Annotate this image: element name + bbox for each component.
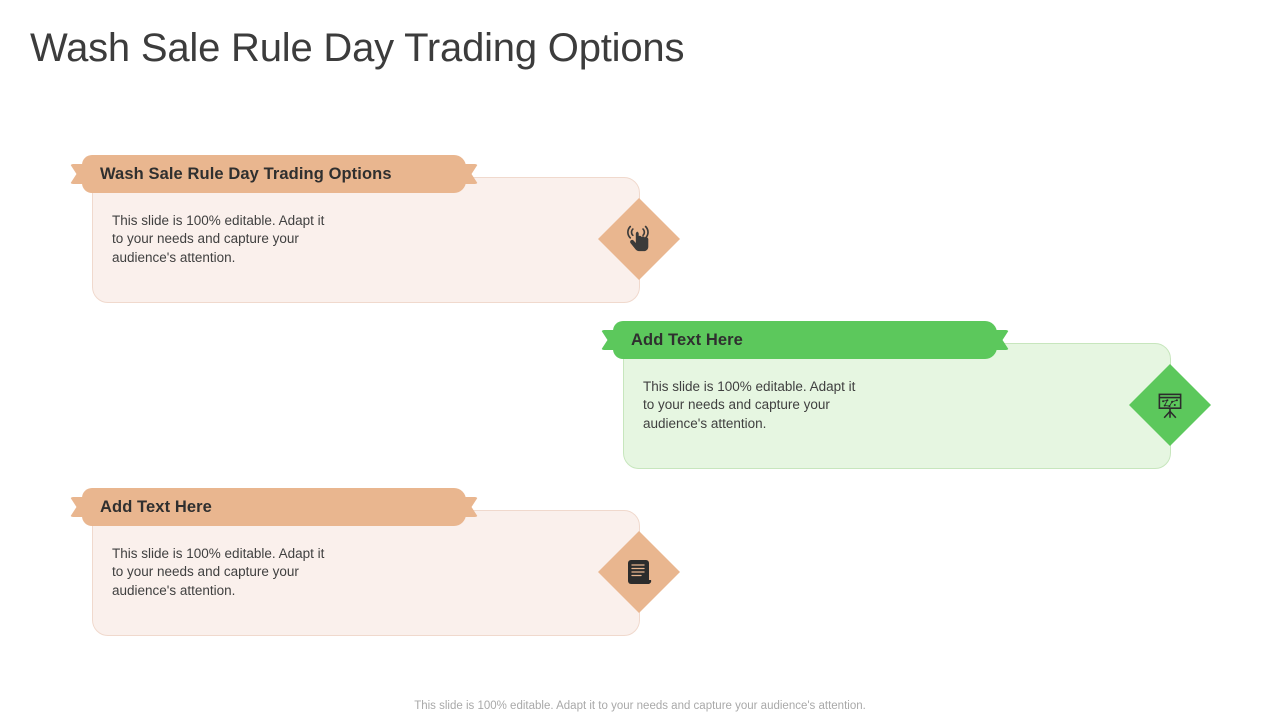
- card-text-3: This slide is 100% editable. Adapt it to…: [112, 545, 412, 600]
- tap-gesture-icon: [619, 219, 659, 259]
- ribbon-label-2: Add Text Here: [631, 331, 743, 350]
- ribbon-banner-3[interactable]: Add Text Here: [70, 488, 478, 526]
- card-text-2: This slide is 100% editable. Adapt it to…: [643, 378, 943, 433]
- footer-note: This slide is 100% editable. Adapt it to…: [0, 700, 1280, 712]
- presentation-board-icon: [1150, 385, 1190, 425]
- content-block-3: This slide is 100% editable. Adapt it to…: [92, 488, 682, 638]
- ribbon-banner-2[interactable]: Add Text Here: [601, 321, 1009, 359]
- ribbon-label-3: Add Text Here: [100, 498, 212, 517]
- content-block-2: This slide is 100% editable. Adapt it to…: [623, 321, 1213, 471]
- scroll-document-icon: [619, 552, 659, 592]
- card-text-1: This slide is 100% editable. Adapt it to…: [112, 212, 412, 267]
- ribbon-banner-1[interactable]: Wash Sale Rule Day Trading Options: [70, 155, 478, 193]
- content-block-1: This slide is 100% editable. Adapt it to…: [92, 155, 682, 305]
- ribbon-label-1: Wash Sale Rule Day Trading Options: [100, 165, 392, 184]
- page-title: Wash Sale Rule Day Trading Options: [30, 26, 684, 71]
